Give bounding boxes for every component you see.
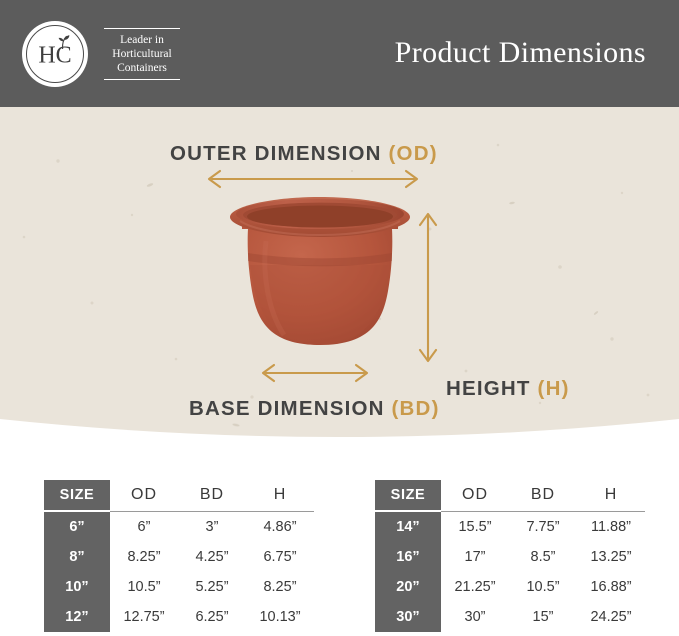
column-header-h: H (577, 480, 645, 511)
cell-h: 24.25” (577, 602, 645, 632)
cell-od: 17” (441, 542, 509, 572)
page-title: Product Dimensions (395, 36, 646, 70)
outer-dimension-abbr: (OD) (389, 142, 438, 165)
height-dimension-text: HEIGHT (446, 377, 538, 400)
column-header-bd: BD (178, 480, 246, 511)
table-row: 8” 8.25” 4.25” 6.75” (44, 542, 314, 572)
outer-dimension-text: OUTER DIMENSION (170, 142, 389, 165)
tagline-line-2: Horticultural (100, 47, 184, 61)
cell-h: 16.88” (577, 572, 645, 602)
cell-size: 10” (44, 572, 110, 602)
cell-size: 16” (375, 542, 441, 572)
tagline-rule-top (104, 28, 180, 29)
cell-od: 6” (110, 511, 178, 542)
height-dimension-label: HEIGHT (H) (446, 377, 570, 401)
table-row: 20” 21.25” 10.5” 16.88” (375, 572, 645, 602)
column-header-od: OD (441, 480, 509, 511)
column-header-od: OD (110, 480, 178, 511)
cell-h: 11.88” (577, 511, 645, 542)
base-dimension-label: BASE DIMENSION (BD) (189, 397, 440, 421)
column-header-h: H (246, 480, 314, 511)
table-row: 30” 30” 15” 24.25” (375, 602, 645, 632)
cell-h: 8.25” (246, 572, 314, 602)
cell-size: 20” (375, 572, 441, 602)
column-header-size: SIZE (44, 480, 110, 511)
cell-h: 13.25” (577, 542, 645, 572)
cell-size: 30” (375, 602, 441, 632)
outer-dimension-label: OUTER DIMENSION (OD) (170, 142, 438, 166)
table-row: 6” 6” 3” 4.86” (44, 511, 314, 542)
brand-logo: HC Leader in Horticultural Containers (22, 21, 187, 87)
diagram-panel: OUTER DIMENSION (OD) HEIGHT (H) BASE DIM… (0, 107, 679, 447)
tagline-line-1: Leader in (100, 33, 184, 47)
cell-bd: 15” (509, 602, 577, 632)
cell-od: 12.75” (110, 602, 178, 632)
cell-bd: 6.25” (178, 602, 246, 632)
dimension-table-small: SIZE OD BD H 6” 6” 3” 4.86” 8” 8.25” 4.2… (44, 480, 314, 632)
flower-pot-illustration (222, 195, 418, 365)
cell-bd: 4.25” (178, 542, 246, 572)
cell-size: 6” (44, 511, 110, 542)
table-row: 12” 12.75” 6.25” 10.13” (44, 602, 314, 632)
base-dimension-text: BASE DIMENSION (189, 397, 392, 420)
tagline-rule-bottom (104, 79, 180, 80)
table-row: 16” 17” 8.5” 13.25” (375, 542, 645, 572)
tagline-line-3: Containers (100, 61, 184, 75)
header-bar: HC Leader in Horticultural Containers Pr… (0, 0, 679, 107)
height-dimension-abbr: (H) (538, 377, 570, 400)
cell-size: 14” (375, 511, 441, 542)
logo-tagline: Leader in Horticultural Containers (100, 24, 184, 84)
logo-circle-icon: HC (22, 21, 88, 87)
table-row: 14” 15.5” 7.75” 11.88” (375, 511, 645, 542)
dimension-table-large: SIZE OD BD H 14” 15.5” 7.75” 11.88” 16” … (375, 480, 645, 632)
table-row: 10” 10.5” 5.25” 8.25” (44, 572, 314, 602)
cell-h: 4.86” (246, 511, 314, 542)
cell-bd: 7.75” (509, 511, 577, 542)
cell-od: 21.25” (441, 572, 509, 602)
cell-od: 8.25” (110, 542, 178, 572)
cell-h: 6.75” (246, 542, 314, 572)
leaf-sprout-icon (53, 34, 73, 50)
cell-size: 8” (44, 542, 110, 572)
cell-bd: 5.25” (178, 572, 246, 602)
cell-od: 10.5” (110, 572, 178, 602)
cell-size: 12” (44, 602, 110, 632)
dimension-tables: SIZE OD BD H 6” 6” 3” 4.86” 8” 8.25” 4.2… (0, 447, 679, 636)
table-header-row: SIZE OD BD H (375, 480, 645, 511)
cell-bd: 10.5” (509, 572, 577, 602)
cell-h: 10.13” (246, 602, 314, 632)
cell-bd: 8.5” (509, 542, 577, 572)
cell-bd: 3” (178, 511, 246, 542)
table-header-row: SIZE OD BD H (44, 480, 314, 511)
cell-od: 30” (441, 602, 509, 632)
cell-od: 15.5” (441, 511, 509, 542)
column-header-bd: BD (509, 480, 577, 511)
base-dimension-abbr: (BD) (392, 397, 440, 420)
column-header-size: SIZE (375, 480, 441, 511)
